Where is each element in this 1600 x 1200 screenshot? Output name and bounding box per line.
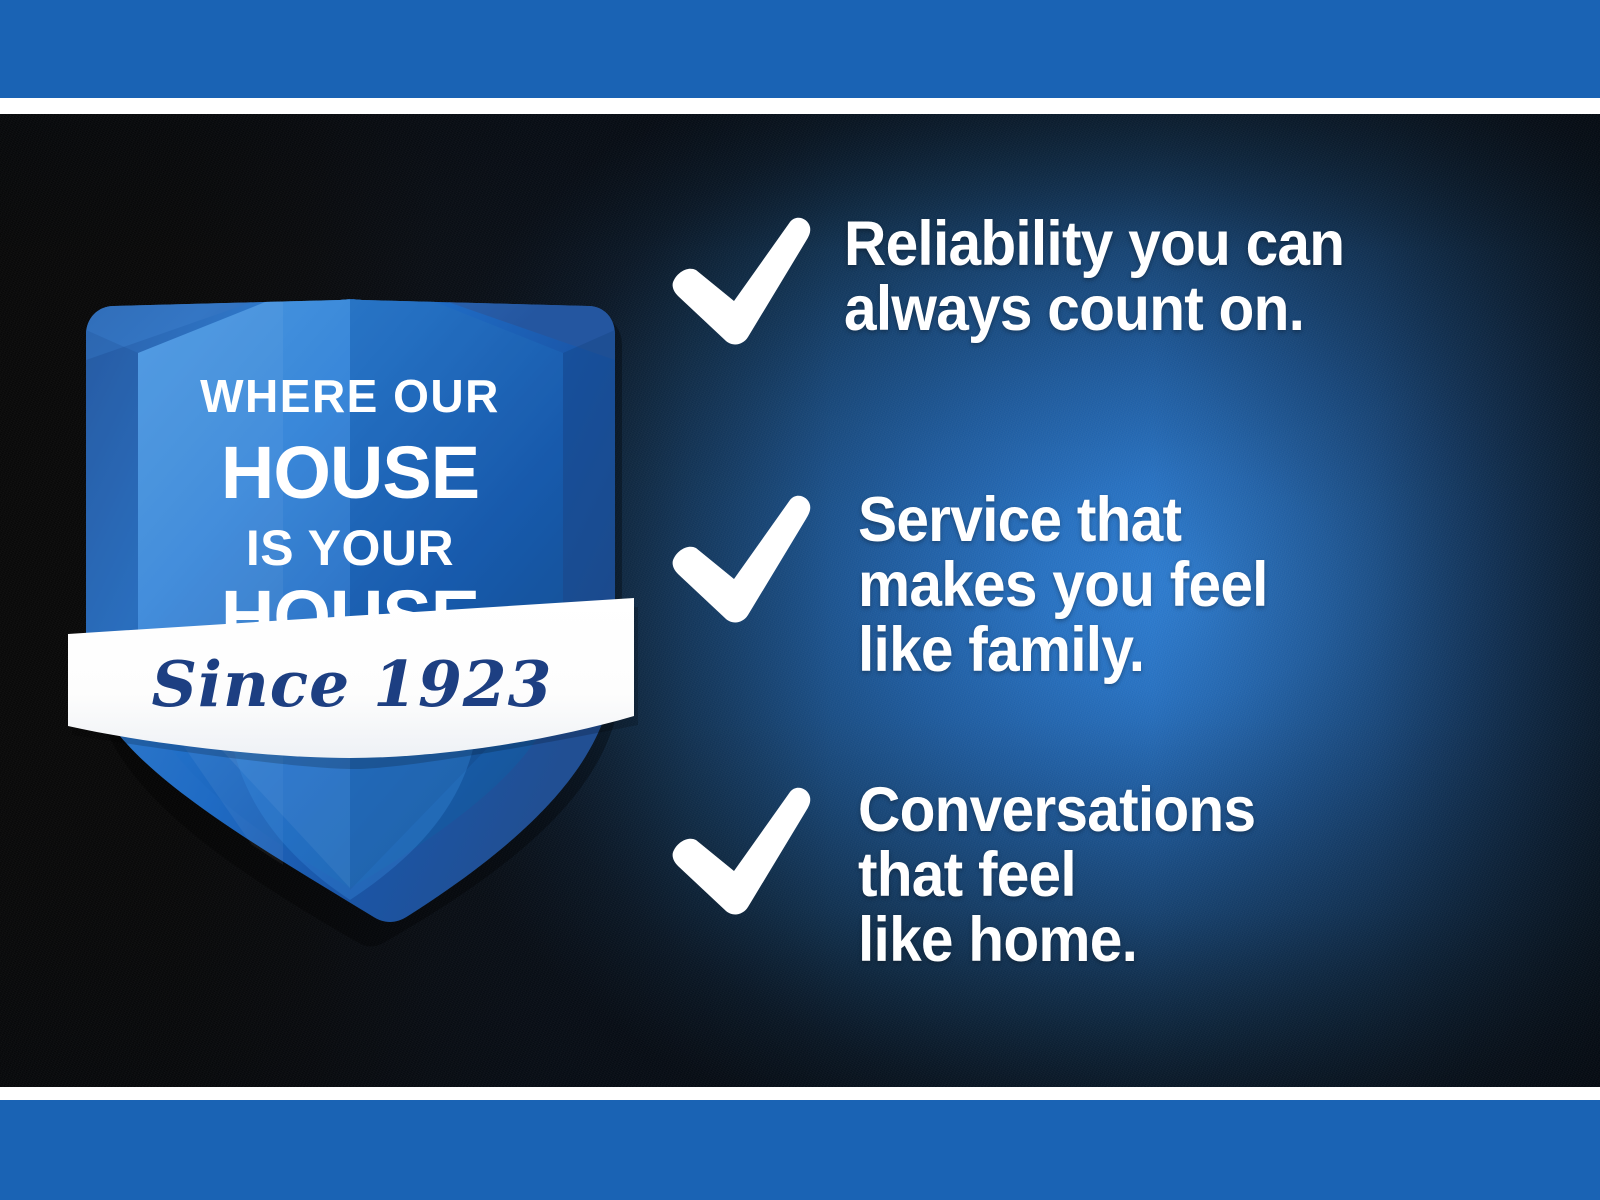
badge-line-1: WHERE OUR <box>200 370 500 422</box>
promo-graphic: WHERE OUR HOUSE IS YOUR HOUSE Since 1923… <box>0 0 1600 1200</box>
bottom-accent-bar <box>0 1100 1600 1200</box>
benefit-item-3: Conversations that feel like home. <box>662 746 1542 1006</box>
badge-since-text: Since 1923 <box>152 647 553 721</box>
benefit-item-2: Service that makes you feel like family. <box>662 446 1542 746</box>
benefit-text-1: Reliability you can always count on. <box>844 196 1493 342</box>
benefit-text-3: Conversations that feel like home. <box>858 746 1494 973</box>
badge-line-2: HOUSE <box>221 431 479 514</box>
benefits-list: Reliability you can always count on. Ser… <box>662 196 1542 1006</box>
checkmark-icon <box>662 786 812 921</box>
shield-badge-logo: WHERE OUR HOUSE IS YOUR HOUSE Since 1923 <box>78 160 623 920</box>
badge-line-3: IS YOUR <box>246 520 454 576</box>
top-divider <box>0 98 1600 114</box>
checkmark-icon <box>662 216 812 351</box>
benefit-text-2: Service that makes you feel like family. <box>858 446 1494 683</box>
bottom-divider <box>0 1087 1600 1100</box>
checkmark-icon <box>662 494 812 629</box>
top-accent-bar <box>0 0 1600 98</box>
benefit-item-1: Reliability you can always count on. <box>662 196 1542 446</box>
